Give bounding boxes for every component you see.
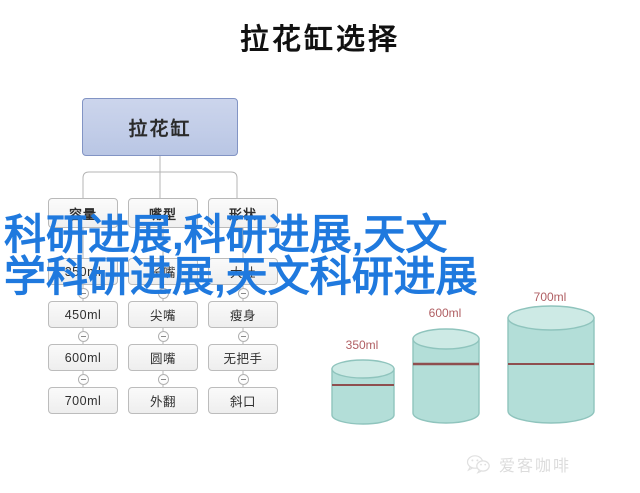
tree-leaf-label: 圆嘴 [150,348,176,367]
collapse-minus-icon[interactable] [158,331,169,342]
tree-leaf-shape-0[interactable]: 大肚 [208,258,278,285]
tree-leaf-shape-2[interactable]: 无把手 [208,344,278,371]
collapse-minus-icon[interactable] [78,331,89,342]
tree-leaf-label: 瘦身 [230,305,256,324]
watermark-text: 爱客咖啡 [499,452,571,476]
tree-node-shape-label: 形状 [229,204,257,223]
watermark: 爱客咖啡 [466,452,571,476]
tree-node-shape[interactable]: 形状 [208,198,278,228]
tree-leaf-label: 大肚 [230,262,256,281]
diagram-canvas: 拉花缸选择 [0,0,640,493]
tree-leaf-shape-3[interactable]: 斜口 [208,387,278,414]
tree-leaf-capacity-3[interactable]: 700ml [48,387,118,414]
tree-leaf-label: 尖嘴 [150,305,176,324]
tree-node-root-label: 拉花缸 [128,114,191,141]
cylinder-label-600: 600ml [412,306,478,320]
tree-leaf-capacity-2[interactable]: 600ml [48,344,118,371]
cylinder-label-350: 350ml [330,338,394,352]
cylinder-350 [328,358,398,426]
tree-leaf-label: 450ml [65,308,102,322]
collapse-minus-icon[interactable] [158,288,169,299]
tree-node-capacity[interactable]: 容量 [48,198,118,228]
cylinder-label-700: 700ml [508,290,592,304]
tree-leaf-spout-3[interactable]: 外翻 [128,387,198,414]
tree-leaf-label: 外翻 [150,391,176,410]
tree-leaf-capacity-1[interactable]: 450ml [48,301,118,328]
tree-leaf-spout-0[interactable]: 长嘴 [128,258,198,285]
collapse-minus-icon[interactable] [158,374,169,385]
tree-leaf-spout-1[interactable]: 尖嘴 [128,301,198,328]
mindmap-tree: 拉花缸 容量 嘴型 形状 350ml 450ml 600ml 700ml 长嘴 [0,0,340,440]
tree-leaf-shape-1[interactable]: 瘦身 [208,301,278,328]
tree-leaf-label: 700ml [65,394,102,408]
wechat-icon [466,454,492,474]
collapse-minus-icon[interactable] [78,374,89,385]
collapse-minus-icon[interactable] [238,374,249,385]
tree-leaf-label: 600ml [65,351,102,365]
collapse-minus-icon[interactable] [238,331,249,342]
cylinder-600 [409,326,483,426]
tree-leaf-label: 斜口 [230,391,256,410]
cylinder-700 [503,303,599,427]
collapse-minus-icon[interactable] [238,288,249,299]
tree-node-root[interactable]: 拉花缸 [82,98,238,156]
tree-node-spout-label: 嘴型 [149,204,177,223]
tree-leaf-spout-2[interactable]: 圆嘴 [128,344,198,371]
tree-node-spout[interactable]: 嘴型 [128,198,198,228]
tree-leaf-capacity-0[interactable]: 350ml [48,258,118,285]
collapse-minus-icon[interactable] [78,288,89,299]
tree-leaf-label: 350ml [65,265,102,279]
tree-leaf-label: 无把手 [223,348,262,367]
tree-node-capacity-label: 容量 [69,204,97,223]
tree-leaf-label: 长嘴 [150,262,176,281]
